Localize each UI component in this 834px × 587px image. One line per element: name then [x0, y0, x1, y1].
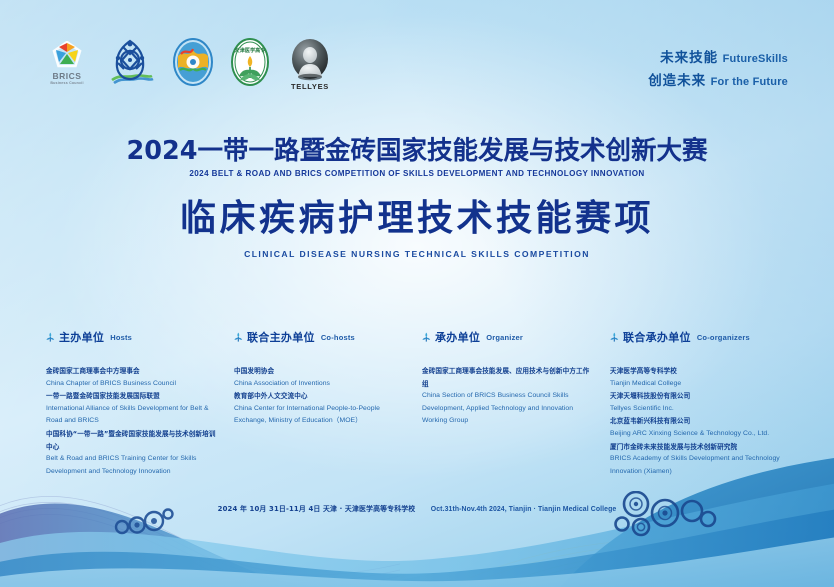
org-column-coorganizers: 联合承办单位 Co-organizers 天津医学高等专科学校 Tianjin …: [610, 329, 806, 478]
skills-alliance-logo: [104, 36, 156, 93]
org-entry-en: International Alliance of Skills Develop…: [46, 403, 220, 428]
leaf-bullet-icon: [46, 332, 55, 342]
org-entry-en: Belt & Road and BRICS Training Center fo…: [46, 453, 220, 478]
org-column-hosts-title-en: Hosts: [110, 333, 132, 342]
competition-title-en: 2024 BELT & ROAD AND BRICS COMPETITION O…: [0, 169, 834, 178]
org-entry-cn: 一带一路暨金砖国家技能发展国际联盟: [46, 390, 220, 403]
org-entry-en: Beijing ARC Xinxing Science & Technology…: [610, 428, 806, 441]
globe-emblem-logo: [172, 36, 214, 93]
poster-canvas: BRICS Business Council: [0, 0, 834, 587]
org-column-hosts-title-cn: 主办单位: [59, 329, 104, 345]
org-entry-en: Tellyes Scientific Inc.: [610, 403, 806, 416]
org-entry: 中国科协“一带一路”暨金砖国家技能发展与技术创新培训中心 Belt & Road…: [46, 428, 220, 478]
leaf-bullet-icon: [234, 332, 243, 342]
org-entry: 天津天堰科技股份有限公司 Tellyes Scientific Inc.: [610, 390, 806, 415]
org-entry-cn: 天津天堰科技股份有限公司: [610, 390, 806, 403]
org-column-cohosts-title-en: Co-hosts: [321, 333, 355, 342]
org-column-organizer-title-cn: 承办单位: [435, 329, 480, 345]
org-entry-cn: 金砖国家工商理事会技能发展、应用技术与创新中方工作组: [422, 365, 596, 390]
org-entry-cn: 北京蓝韦新兴科技有限公司: [610, 415, 806, 428]
event-title-cn: 临床疾病护理技术技能赛项: [0, 197, 834, 241]
competition-title-cn: 2024一带一路暨金砖国家技能发展与技术创新大赛: [0, 136, 834, 166]
org-entry-cn: 天津医学高等专科学校: [610, 365, 806, 378]
org-column-cohosts-title-cn: 联合主办单位: [247, 329, 315, 345]
slogan-line-1-cn: 未来技能: [660, 50, 718, 66]
brics-logo-text: BRICS: [53, 72, 82, 81]
event-date-venue: 2024 年 10月 31日-11月 4日 天津 · 天津医学高等专科学校 Oc…: [0, 498, 834, 516]
tellyes-logo-text: TELLYES: [291, 82, 329, 91]
tianjin-medical-college-logo: 天津医学高专: [230, 36, 270, 93]
org-column-cohosts-header: 联合主办单位 Co-hosts: [234, 329, 408, 345]
slogan-line-1: 未来技能 FutureSkills: [648, 46, 788, 69]
org-entry-cn: 金砖国家工商理事会中方理事会: [46, 365, 220, 378]
college-oval-emblem-icon: 天津医学高专: [230, 36, 270, 88]
sponsor-logo-row: BRICS Business Council: [46, 36, 334, 93]
tellyes-logo: TELLYES: [286, 39, 334, 93]
org-entry: 金砖国家工商理事会技能发展、应用技术与创新中方工作组 China Section…: [422, 365, 596, 428]
org-entry: 一带一路暨金砖国家技能发展国际联盟 International Alliance…: [46, 390, 220, 428]
brics-business-council-logo: BRICS Business Council: [46, 41, 88, 93]
org-entry-en: China Section of BRICS Business Council …: [422, 390, 596, 428]
org-column-hosts-header: 主办单位 Hosts: [46, 329, 220, 345]
slogan-line-2: 创造未来 For the Future: [648, 69, 788, 92]
org-entry-cn: 厦门市金砖未来技能发展与技术创新研究院: [610, 441, 806, 454]
org-column-coorganizers-title-cn: 联合承办单位: [623, 329, 691, 345]
org-column-coorganizers-title-en: Co-organizers: [697, 333, 750, 342]
org-entry-en: China Association of Inventions: [234, 378, 408, 391]
svg-text:天津医学高专: 天津医学高专: [234, 46, 265, 54]
org-column-cohosts: 联合主办单位 Co-hosts 中国发明协会 China Association…: [234, 329, 422, 478]
globe-emblem-icon: [172, 36, 214, 88]
org-column-hosts: 主办单位 Hosts 金砖国家工商理事会中方理事会 China Chapter …: [46, 329, 234, 478]
event-date-venue-cn: 2024 年 10月 31日-11月 4日 天津 · 天津医学高等专科学校: [218, 505, 416, 513]
event-date-venue-en: Oct.31th-Nov.4th 2024, Tianjin · Tianjin…: [431, 506, 617, 513]
org-column-organizer: 承办单位 Organizer 金砖国家工商理事会技能发展、应用技术与创新中方工作…: [422, 329, 610, 478]
org-entry: 天津医学高等专科学校 Tianjin Medical College: [610, 365, 806, 390]
org-entry-en: China Chapter of BRICS Business Council: [46, 378, 220, 391]
org-entry-en: BRICS Academy of Skills Development and …: [610, 453, 806, 478]
org-entry-cn: 中国发明协会: [234, 365, 408, 378]
alliance-knot-icon: [104, 36, 156, 88]
org-entry-en: China Center for International People-to…: [234, 403, 408, 428]
leaf-bullet-icon: [422, 332, 431, 342]
org-entry: 金砖国家工商理事会中方理事会 China Chapter of BRICS Bu…: [46, 365, 220, 390]
event-title-en: CLINICAL DISEASE NURSING TECHNICAL SKILL…: [0, 249, 834, 259]
org-column-coorganizers-header: 联合承办单位 Co-organizers: [610, 329, 806, 345]
slogan-line-1-en: FutureSkills: [723, 53, 788, 65]
org-entry: 中国发明协会 China Association of Inventions: [234, 365, 408, 390]
slogan-block: 未来技能 FutureSkills 创造未来 For the Future: [648, 46, 788, 92]
brics-logo-subtext: Business Council: [50, 81, 83, 86]
organizer-columns: 主办单位 Hosts 金砖国家工商理事会中方理事会 China Chapter …: [46, 329, 806, 478]
leaf-bullet-icon: [610, 332, 619, 342]
brics-pentagon-icon: [51, 41, 83, 71]
org-column-organizer-title-en: Organizer: [486, 333, 523, 342]
title-block: 2024一带一路暨金砖国家技能发展与技术创新大赛 2024 BELT & ROA…: [0, 136, 834, 259]
org-entry-en: Tianjin Medical College: [610, 378, 806, 391]
org-column-organizer-header: 承办单位 Organizer: [422, 329, 596, 345]
tellyes-figure-icon: [288, 39, 332, 81]
org-entry: 教育部中外人文交流中心 China Center for Internation…: [234, 390, 408, 428]
slogan-line-2-en: For the Future: [711, 76, 788, 88]
org-entry: 厦门市金砖未来技能发展与技术创新研究院 BRICS Academy of Ski…: [610, 441, 806, 479]
org-entry: 北京蓝韦新兴科技有限公司 Beijing ARC Xinxing Science…: [610, 415, 806, 440]
org-entry-cn: 中国科协“一带一路”暨金砖国家技能发展与技术创新培训中心: [46, 428, 220, 453]
slogan-line-2-cn: 创造未来: [648, 73, 706, 89]
org-entry-cn: 教育部中外人文交流中心: [234, 390, 408, 403]
